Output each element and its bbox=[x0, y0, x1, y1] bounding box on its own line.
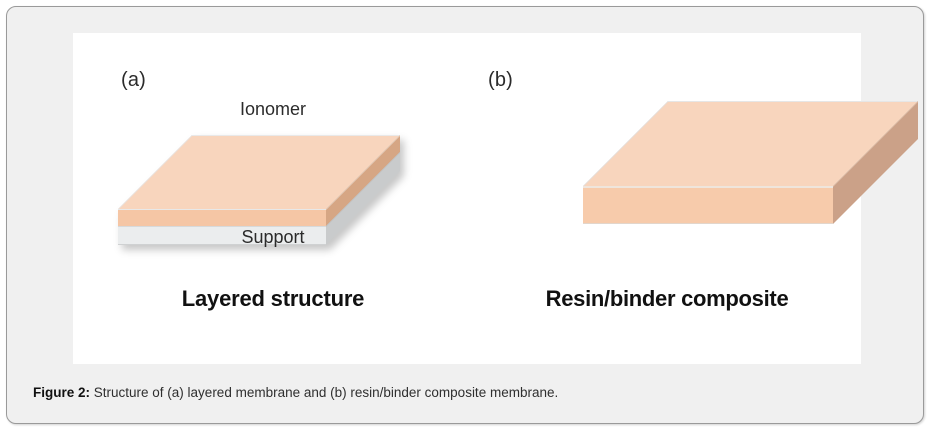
figure-panel-b: (b) Resin/binder composite bbox=[473, 33, 861, 364]
panel-b-tag: (b) bbox=[488, 69, 513, 92]
figure-legend-number: Figure 2: bbox=[33, 385, 90, 400]
figure-image-panel: (a) Ionomer Support Layered structure (b… bbox=[73, 33, 861, 364]
panel-a-caption: Layered structure bbox=[73, 286, 473, 312]
composite-front-face bbox=[583, 186, 833, 224]
support-layer-label: Support bbox=[73, 227, 473, 248]
panel-a-tag: (a) bbox=[121, 69, 146, 92]
ionomer-front-face bbox=[118, 209, 326, 226]
ionomer-layer-label: Ionomer bbox=[73, 99, 473, 120]
figure-panel-a: (a) Ionomer Support Layered structure bbox=[73, 33, 473, 364]
figure-legend-text: Structure of (a) layered membrane and (b… bbox=[90, 385, 558, 400]
figure-card: (a) Ionomer Support Layered structure (b… bbox=[6, 6, 924, 424]
composite-membrane-diagram bbox=[583, 101, 913, 231]
figure-legend: Figure 2: Structure of (a) layered membr… bbox=[33, 384, 897, 402]
panel-b-caption: Resin/binder composite bbox=[473, 286, 861, 312]
